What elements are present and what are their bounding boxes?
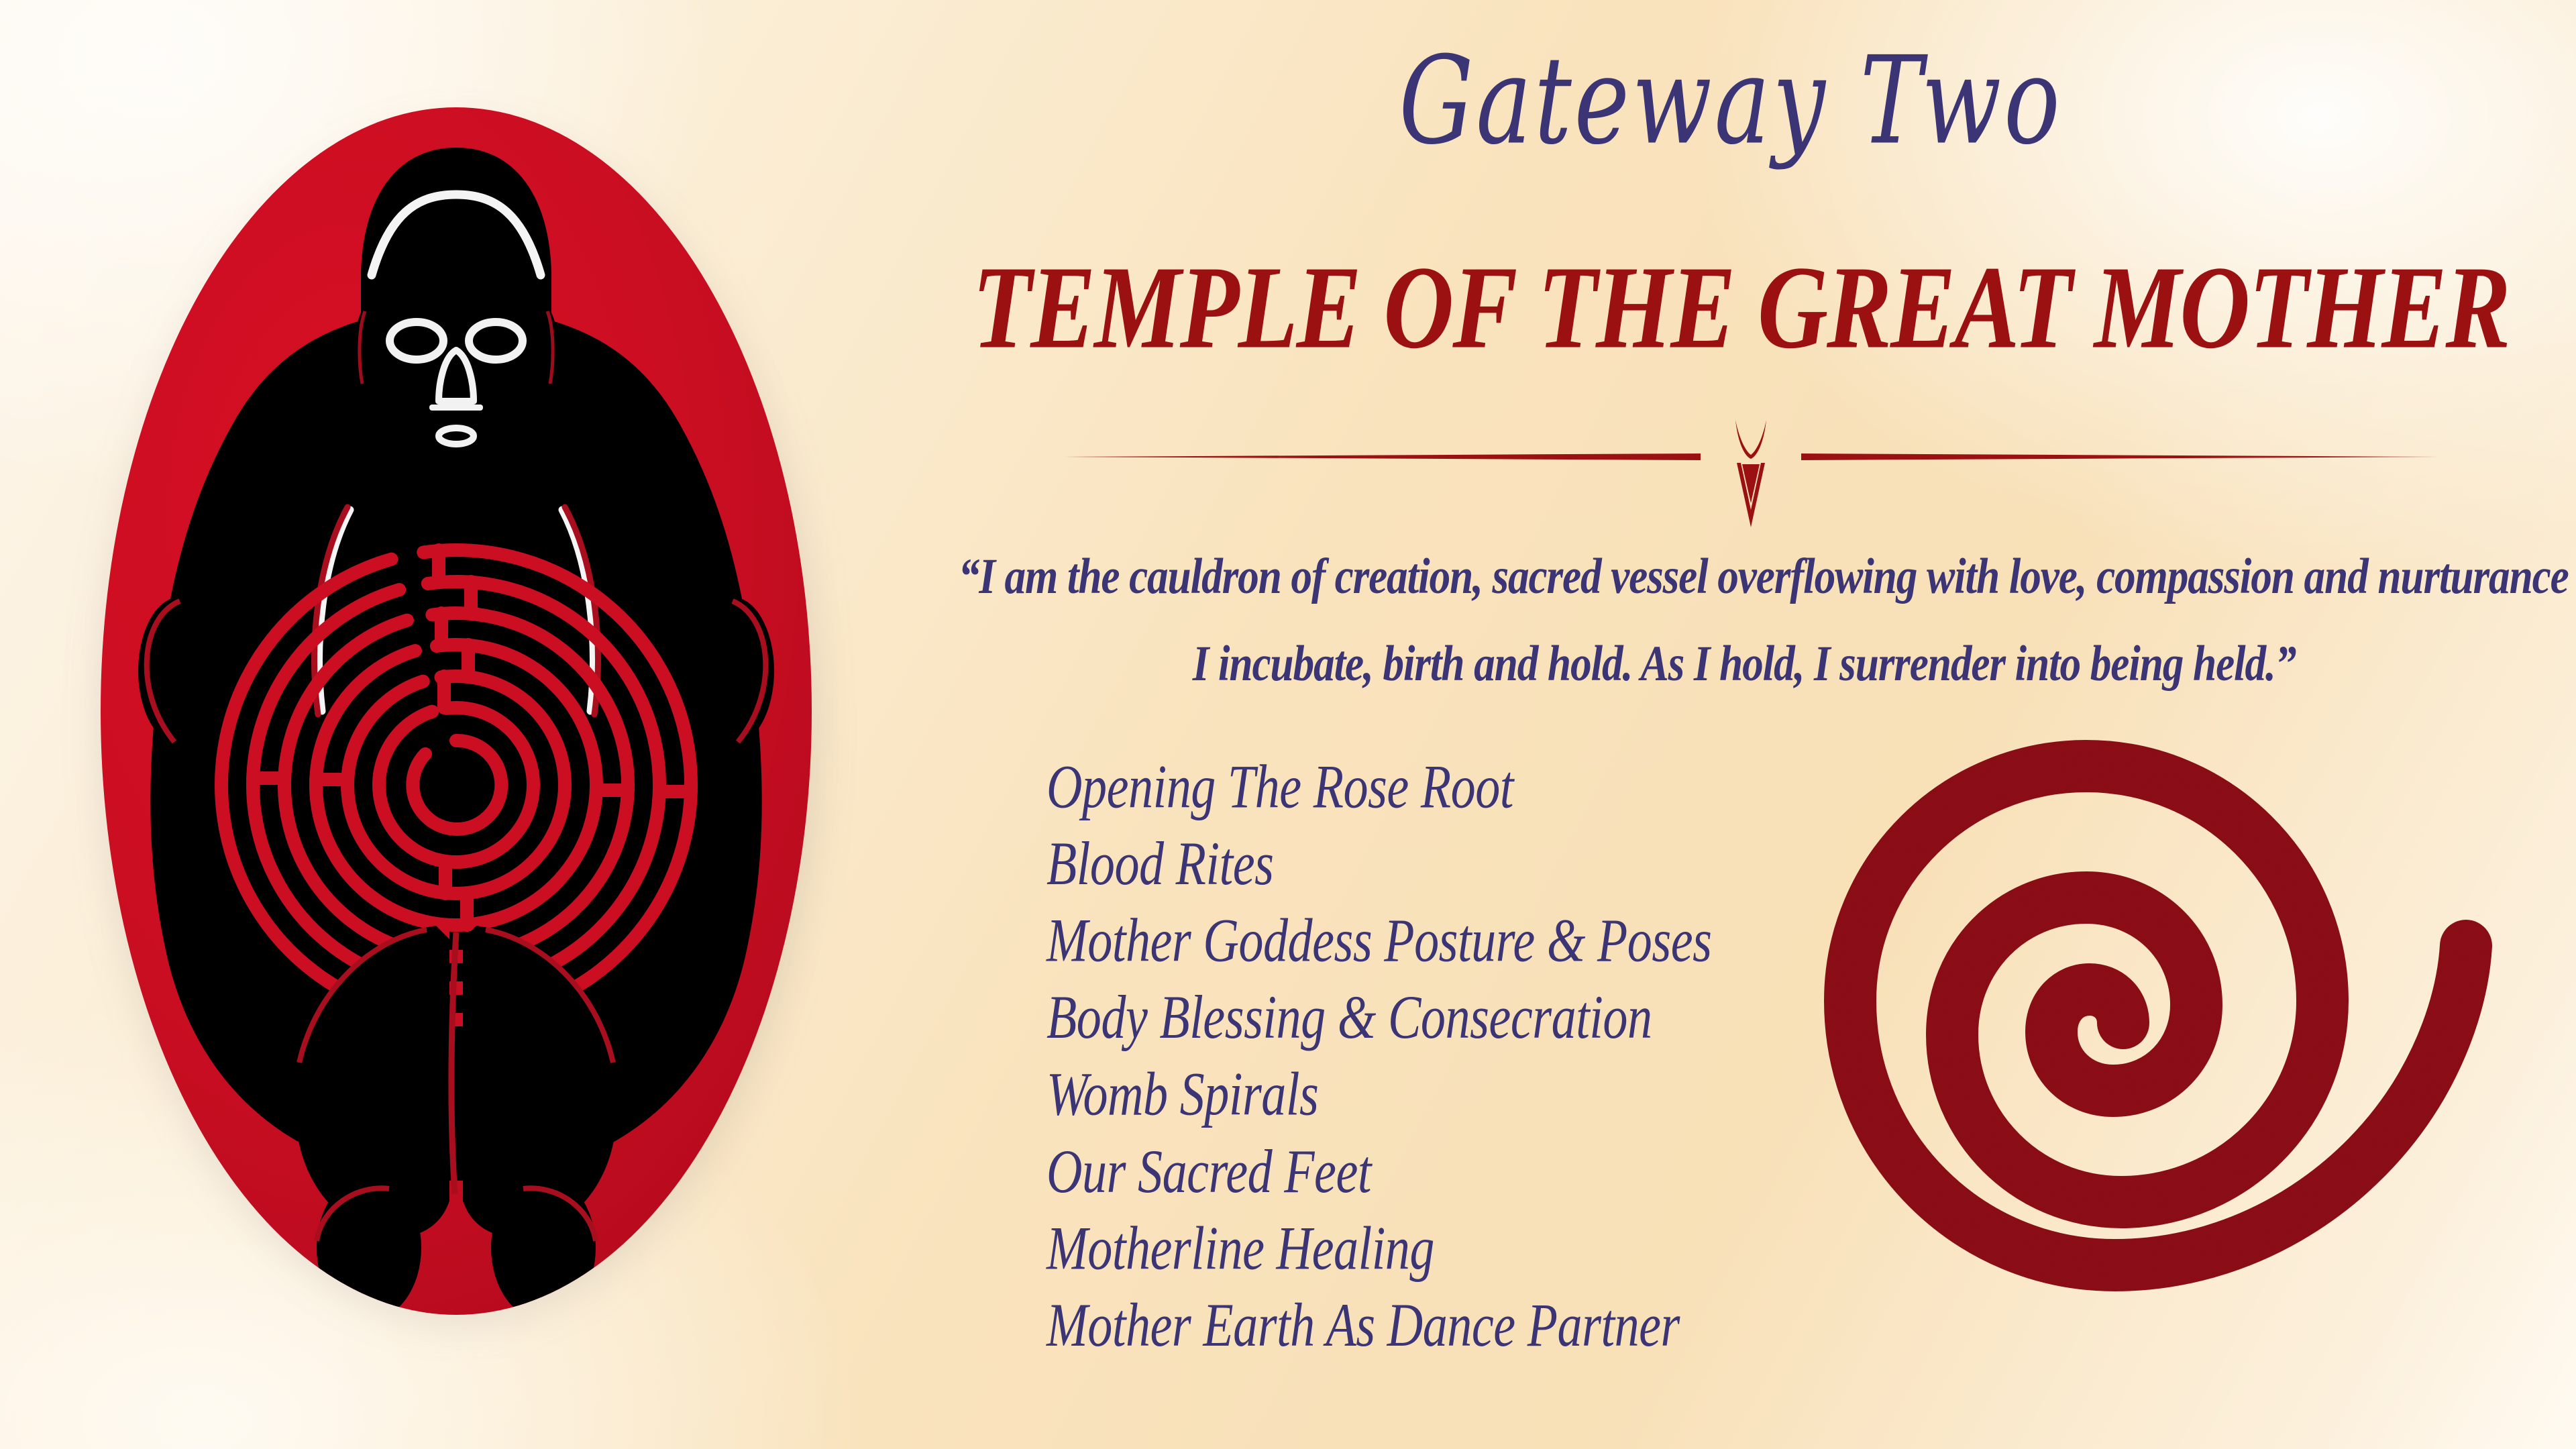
page-title: TEMPLE OF THE GREAT MOTHER [950, 248, 2531, 367]
list-item: Our Sacred Feet [1046, 1132, 1712, 1210]
right-hand [691, 597, 774, 745]
left-foot [317, 1175, 421, 1315]
right-foot [491, 1175, 596, 1315]
divider [1057, 415, 2445, 535]
list-item: Body Blessing & Consecration [1046, 979, 1712, 1056]
content-column: Gateway Two TEMPLE OF THE GREAT MOTHER “… [926, 0, 2576, 1449]
red-spiral-emblem [1818, 718, 2502, 1295]
list-item: Womb Spirals [1046, 1055, 1712, 1132]
quote-line-2: I incubate, birth and hold. As I hold, I… [959, 620, 2530, 706]
list-item: Mother Goddess Posture & Poses [1046, 902, 1712, 979]
quote-line-1: “I am the cauldron of creation, sacred v… [959, 533, 2530, 620]
great-mother-goddess-figure [101, 107, 812, 1315]
list-item: Motherline Healing [1046, 1210, 1712, 1287]
practices-list: Opening The Rose Root Blood Rites Mother… [1046, 748, 1712, 1363]
divider-rule-right [1801, 453, 2438, 460]
spiral-inner-arm [1952, 898, 2322, 1202]
gateway-eyebrow: Gateway Two [974, 40, 2487, 162]
divider-rule-left [1063, 453, 1701, 460]
list-item: Opening The Rose Root [1046, 748, 1712, 825]
goddess-neck [416, 443, 496, 523]
red-oval-backdrop [101, 107, 812, 1315]
list-item: Blood Rites [1046, 825, 1712, 902]
goddess-artwork [40, 87, 912, 1382]
poster-canvas: Gateway Two TEMPLE OF THE GREAT MOTHER “… [0, 0, 2576, 1449]
chalice-crescent-ornament [1735, 420, 1766, 459]
list-item: Mother Earth As Dance Partner [1046, 1286, 1712, 1363]
invocation-quote: “I am the cauldron of creation, sacred v… [959, 533, 2530, 707]
left-hand [138, 597, 221, 745]
nose-base [429, 405, 483, 411]
